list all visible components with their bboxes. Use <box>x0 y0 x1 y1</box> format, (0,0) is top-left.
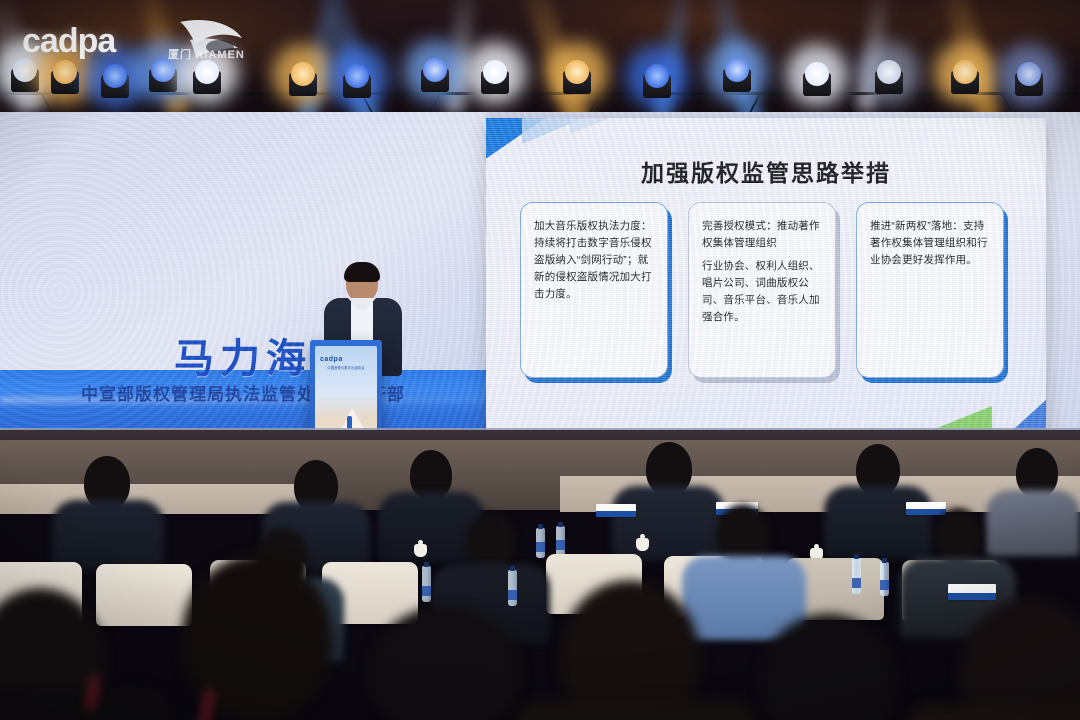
audience-body <box>52 500 164 570</box>
slide-card-text: 行业协会、权利人组织、唱片公司、词曲版权公司、音乐平台、音乐人加强合作。 <box>702 258 822 326</box>
stage-light-15 <box>948 58 982 94</box>
presenter-intro-panel: 马力海 中宣部版权管理局执法监管处正处级干部 <box>0 112 486 442</box>
presentation-slide: 加强版权监管思路举措 加大音乐版权执法力度：持续将打击数字音乐侵权盗版纳入“剑网… <box>486 118 1046 436</box>
audience-body-foreground <box>906 704 1080 720</box>
speaker-name: 马力海 <box>0 326 486 384</box>
podium-subtitle: 中国音像与数字出版协会 <box>318 366 374 371</box>
slide-card-text: 完善授权模式：推动著作权集体管理组织 <box>702 218 822 252</box>
speaker-title: 中宣部版权管理局执法监管处正处级干部 <box>0 380 486 405</box>
stage-light-11 <box>640 62 674 98</box>
table-name-card <box>948 584 996 600</box>
stage-light-2 <box>48 58 82 94</box>
stage-light-13 <box>800 60 834 96</box>
stage-light-6 <box>286 60 320 96</box>
stage-light-3 <box>98 62 132 98</box>
audience-head-foreground <box>182 554 332 720</box>
slide-title: 加强版权监管思路举措 <box>486 154 1046 188</box>
cadpa-logo: cadpa <box>22 22 115 61</box>
stage-light-16 <box>1012 60 1046 96</box>
audience-head <box>466 512 516 570</box>
audience-area <box>0 438 1080 720</box>
stage-light-9 <box>478 58 512 94</box>
water-bottle <box>508 570 517 606</box>
water-bottle <box>556 526 565 556</box>
stage-light-8 <box>418 56 452 92</box>
podium-logo: cadpa <box>320 356 372 363</box>
slide-card: 完善授权模式：推动著作权集体管理组织 行业协会、权利人组织、唱片公司、词曲版权公… <box>688 202 836 378</box>
audience-body-foreground <box>516 700 756 720</box>
water-bottle <box>880 562 889 596</box>
water-bottle <box>536 528 545 558</box>
table-name-card <box>906 502 946 515</box>
speaker-hair <box>344 262 380 282</box>
stage-light-7 <box>340 62 374 98</box>
audience-body <box>612 486 724 560</box>
audience-body <box>986 490 1080 556</box>
water-bottle <box>422 566 431 602</box>
podium-mountain-icon <box>341 408 365 430</box>
conference-photo: cadpa 厦门 XIAMEN 马力海 中宣部版权管理局执法监管处正处级干部 加… <box>0 0 1080 720</box>
slide-card: 推进“新两权”落地：支持著作权集体管理组织和行业协会更好发挥作用。 <box>856 202 1004 378</box>
slide-card-text: 推进“新两权”落地：支持著作权集体管理组织和行业协会更好发挥作用。 <box>870 218 990 269</box>
stage-light-12 <box>720 56 754 92</box>
xiamen-logo-text: 厦门 XIAMEN <box>168 46 245 62</box>
table-name-card <box>596 504 636 517</box>
slide-card: 加大音乐版权执法力度：持续将打击数字音乐侵权盗版纳入“剑网行动”；就新的侵权盗版… <box>520 202 668 378</box>
stage-light-10 <box>560 58 594 94</box>
slide-card-text: 加大音乐版权执法力度：持续将打击数字音乐侵权盗版纳入“剑网行动”；就新的侵权盗版… <box>534 218 654 303</box>
slide-corner-triangle-pale-2 <box>570 118 620 134</box>
water-bottle <box>852 558 861 594</box>
tea-cup <box>636 538 649 551</box>
audience-head <box>934 508 982 564</box>
tea-cup <box>414 544 427 557</box>
led-video-wall: 马力海 中宣部版权管理局执法监管处正处级干部 加强版权监管思路举措 加大音乐版权… <box>0 112 1080 442</box>
slide-card-list: 加大音乐版权执法力度：持续将打击数字音乐侵权盗版纳入“剑网行动”；就新的侵权盗版… <box>520 202 1020 378</box>
audience-body-foreground <box>0 688 170 720</box>
audience-chair <box>96 564 192 626</box>
audience-body <box>824 486 932 558</box>
stage-light-14 <box>872 58 906 94</box>
